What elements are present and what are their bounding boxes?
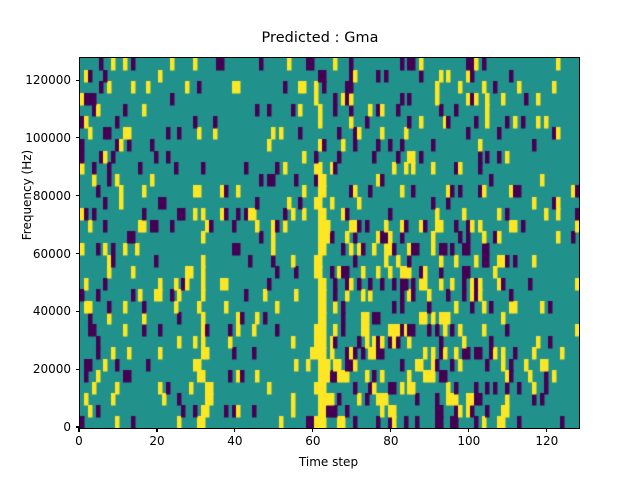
y-tick-label: 120000 — [0, 73, 71, 87]
x-tick-mark — [156, 428, 157, 432]
y-tick-mark — [76, 80, 80, 81]
y-tick-label: 20000 — [0, 362, 71, 376]
y-tick-mark — [76, 137, 80, 138]
x-tick-label: 120 — [535, 434, 558, 448]
y-tick-mark — [76, 369, 80, 370]
x-tick-label: 100 — [457, 434, 480, 448]
y-tick-label: 60000 — [0, 247, 71, 261]
y-tick-mark — [76, 195, 80, 196]
y-axis-label: Frequency (Hz) — [20, 115, 34, 275]
heatmap-canvas — [80, 58, 579, 428]
x-tick-mark — [78, 428, 79, 432]
x-tick-label: 20 — [149, 434, 164, 448]
x-tick-label: 60 — [305, 434, 320, 448]
x-tick-mark — [234, 428, 235, 432]
x-tick-label: 40 — [227, 434, 242, 448]
x-axis-label: Time step — [79, 455, 578, 469]
y-tick-label: 100000 — [0, 131, 71, 145]
y-tick-label: 80000 — [0, 189, 71, 203]
x-tick-mark — [468, 428, 469, 432]
y-tick-mark — [76, 253, 80, 254]
matplotlib-figure: Predicted : Gma 020000400006000080000100… — [0, 0, 640, 480]
x-tick-mark — [390, 428, 391, 432]
heatmap-axes — [79, 57, 580, 429]
y-tick-label: 40000 — [0, 304, 71, 318]
page-title: Predicted : Gma — [0, 30, 640, 46]
y-tick-label: 0 — [0, 420, 71, 434]
x-tick-label: 80 — [383, 434, 398, 448]
y-tick-mark — [76, 311, 80, 312]
x-tick-label: 0 — [75, 434, 83, 448]
x-tick-mark — [546, 428, 547, 432]
x-tick-mark — [312, 428, 313, 432]
